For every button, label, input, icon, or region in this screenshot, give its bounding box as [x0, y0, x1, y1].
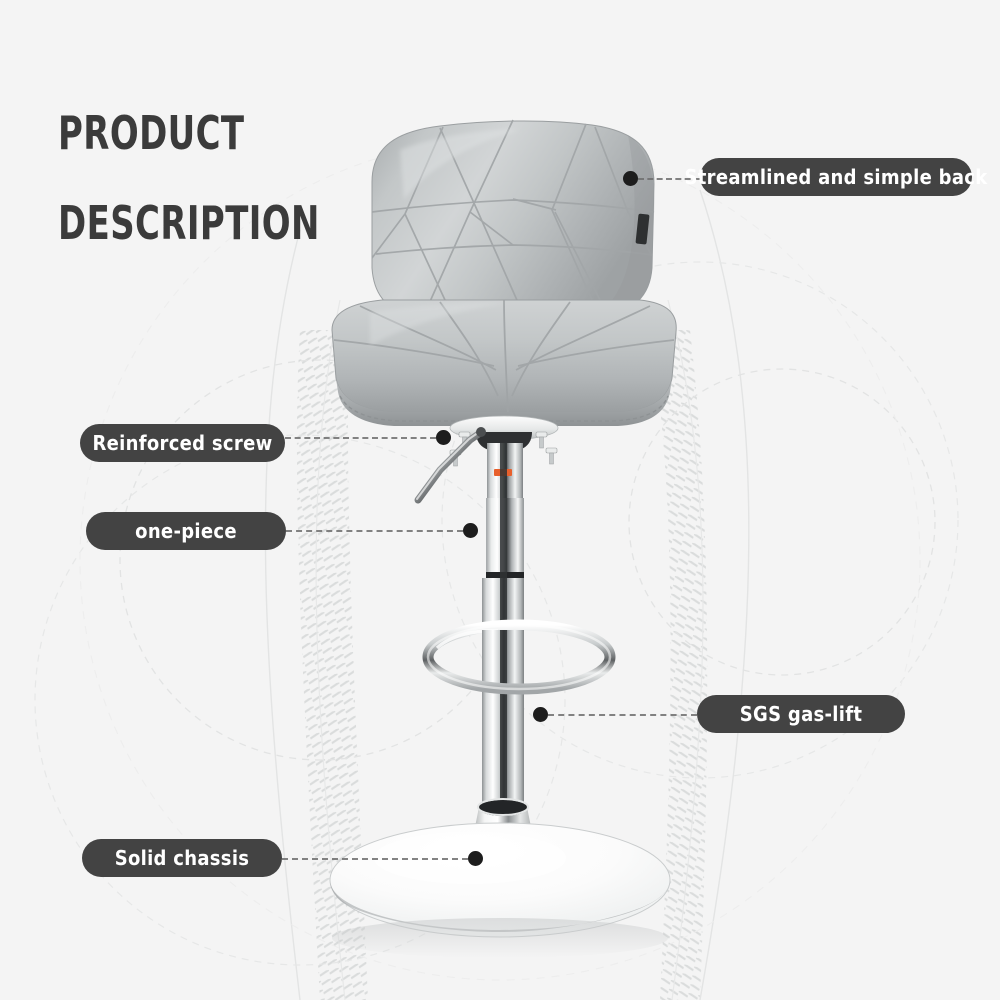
infographic-canvas: PRODUCT DESCRIPTION Streamlined and simp…: [0, 0, 1000, 1000]
callout-label-reinforced-screw[interactable]: Reinforced screw: [80, 424, 285, 462]
callout-label-solid-chassis[interactable]: Solid chassis: [82, 839, 282, 877]
page-title-line2: DESCRIPTION: [58, 201, 320, 246]
lead-line-solid-chassis: [282, 858, 468, 860]
page-title-line1: PRODUCT: [58, 111, 320, 156]
callout-label-sgs-gas-lift[interactable]: SGS gas-lift: [697, 695, 905, 733]
lead-dot-one-piece: [463, 523, 478, 538]
screw-4: [546, 448, 557, 464]
lead-dot-sgs-gas-lift: [533, 707, 548, 722]
callout-label-streamlined-back[interactable]: Streamlined and simple back: [700, 158, 972, 196]
lead-line-sgs-gas-lift: [548, 714, 697, 716]
callout-label-one-piece[interactable]: one-piece: [86, 512, 286, 550]
chassis-base: [330, 799, 670, 958]
lead-line-reinforced-screw: [285, 437, 436, 439]
lead-dot-solid-chassis: [468, 851, 483, 866]
chair-backrest: [372, 120, 654, 317]
screw-3: [536, 432, 547, 448]
page-title: PRODUCT DESCRIPTION: [58, 66, 320, 291]
floor-shadow: [332, 918, 668, 958]
lead-dot-reinforced-screw: [436, 430, 451, 445]
lead-dot-streamlined-back: [623, 171, 638, 186]
chair-seat: [332, 300, 676, 426]
lead-line-one-piece: [286, 530, 463, 532]
